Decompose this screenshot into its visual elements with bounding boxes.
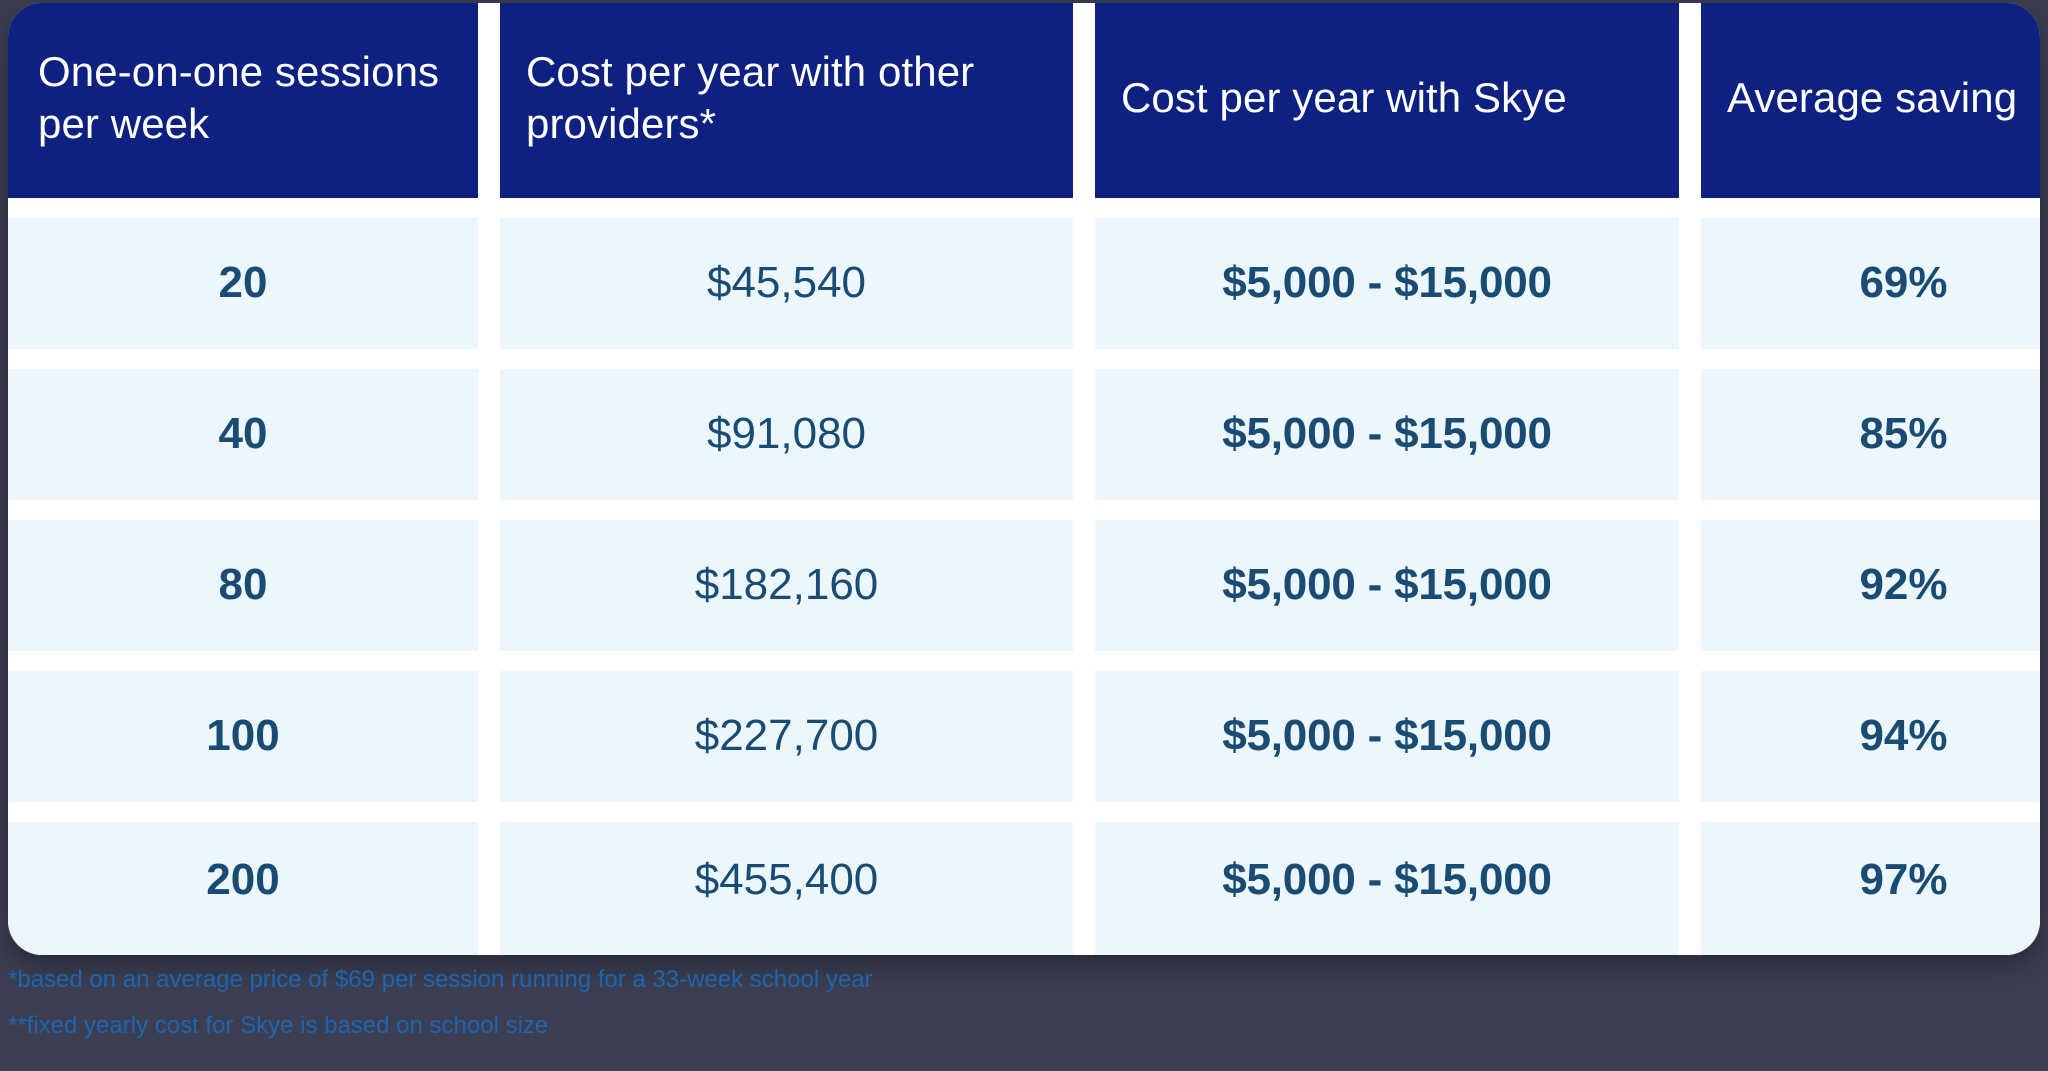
table-row: $455,400 — [500, 822, 1073, 955]
column-header-sessions: One-on-one sessions per week — [8, 3, 478, 198]
column-header-other-providers-cost: Cost per year with other providers* — [500, 3, 1073, 198]
table-row: 100 — [8, 671, 478, 802]
table-row: $227,700 — [500, 671, 1073, 802]
table-row: 200 — [8, 822, 478, 955]
pricing-comparison-screen: One-on-one sessions per week Cost per ye… — [0, 0, 2048, 1071]
table-row: $182,160 — [500, 520, 1073, 651]
table-row: 20 — [8, 218, 478, 349]
footnote-skye-cost-basis: **fixed yearly cost for Skye is based on… — [8, 1014, 1408, 1038]
table-row: $5,000 - $15,000 — [1095, 671, 1679, 802]
column-header-skye-cost-label: Cost per year with Skye — [1121, 72, 1567, 123]
table-row: $91,080 — [500, 369, 1073, 500]
table-row: $5,000 - $15,000 — [1095, 218, 1679, 349]
column-header-other-providers-cost-label: Cost per year with other providers* — [526, 46, 1047, 148]
table-row: 97% — [1701, 822, 2040, 955]
column-header-sessions-label: One-on-one sessions per week — [38, 46, 452, 148]
table-row: $5,000 - $15,000 — [1095, 369, 1679, 500]
column-header-skye-cost: Cost per year with Skye — [1095, 3, 1679, 198]
column-header-average-saving-label: Average saving — [1727, 72, 2017, 123]
table-row: 94% — [1701, 671, 2040, 802]
table-row: $5,000 - $15,000 — [1095, 822, 1679, 955]
column-header-average-saving: Average saving — [1701, 3, 2040, 198]
table-row: $5,000 - $15,000 — [1095, 520, 1679, 651]
table-row: 92% — [1701, 520, 2040, 651]
table-row: 80 — [8, 520, 478, 651]
footnote-session-price: *based on an average price of $69 per se… — [8, 968, 1408, 992]
table-row: 69% — [1701, 218, 2040, 349]
pricing-table-grid: One-on-one sessions per week Cost per ye… — [8, 3, 2040, 955]
table-row: 85% — [1701, 369, 2040, 500]
footnotes: *based on an average price of $69 per se… — [8, 968, 1408, 1060]
pricing-table-card: One-on-one sessions per week Cost per ye… — [8, 3, 2040, 955]
table-row: 40 — [8, 369, 478, 500]
table-row: $45,540 — [500, 218, 1073, 349]
